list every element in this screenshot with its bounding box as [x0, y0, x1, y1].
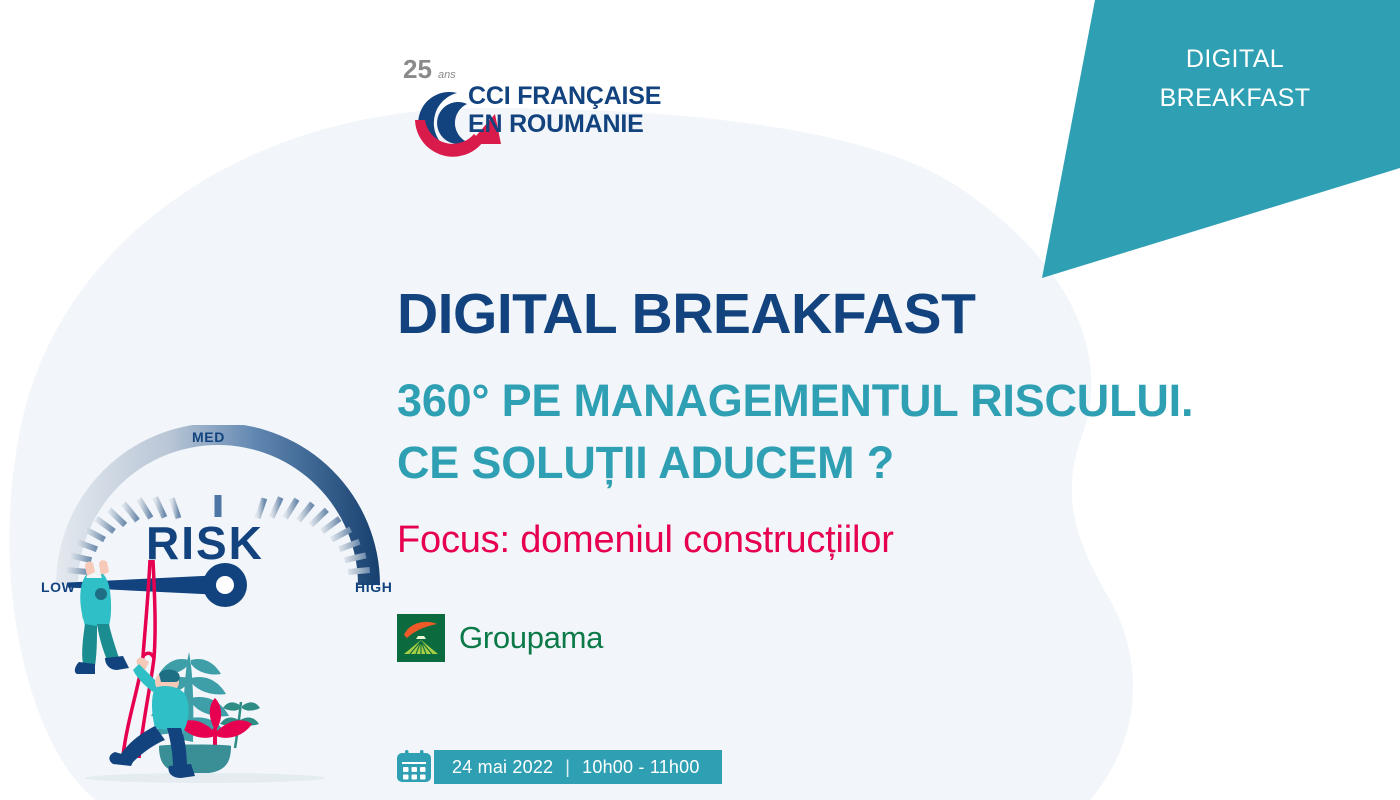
gauge-label-med: MED	[192, 429, 225, 445]
subtitle-line-1: 360° PE MANAGEMENTUL RISCULUI.	[397, 378, 1193, 423]
groupama-wordmark: Groupama	[459, 620, 603, 656]
cci-anniversary-number: 25	[403, 54, 432, 84]
groupama-field-icon	[397, 614, 445, 662]
climbers-illustration	[55, 560, 335, 800]
gauge-label-low: LOW	[41, 579, 75, 595]
date-time-separator: |	[565, 757, 570, 778]
subtitle-line-2: CE SOLUȚII ADUCEM ?	[397, 440, 894, 485]
focus-line: Focus: domeniul construcțiilor	[397, 521, 894, 559]
page-title: DIGITAL BREAKFAST	[397, 286, 975, 343]
gauge-label-high: HIGH	[355, 579, 392, 595]
event-time: 10h00 - 11h00	[582, 757, 699, 778]
calendar-icon	[396, 750, 434, 784]
ground-shadow	[85, 773, 325, 783]
corner-banner-label: DIGITAL BREAKFAST	[1120, 40, 1350, 118]
rope-icon	[123, 560, 150, 756]
event-date: 24 mai 2022	[452, 757, 553, 778]
corner-banner-line1: DIGITAL	[1120, 40, 1350, 79]
corner-banner-line2: BREAKFAST	[1120, 79, 1350, 118]
promotional-banner: DIGITAL BREAKFAST 25 ans CCI FRANÇAISE E…	[0, 0, 1400, 800]
cci-anniversary-suffix: ans	[438, 69, 456, 81]
date-time-bar: 24 mai 2022 | 10h00 - 11h00	[396, 750, 722, 784]
climber-upper	[75, 560, 129, 674]
cci-logo-name: CCI FRANÇAISE EN ROUMANIE	[468, 82, 661, 138]
date-time-text: 24 mai 2022 | 10h00 - 11h00	[434, 750, 722, 784]
sponsor-logo: Groupama	[397, 614, 603, 662]
gauge-center-label: RISK	[146, 516, 264, 570]
